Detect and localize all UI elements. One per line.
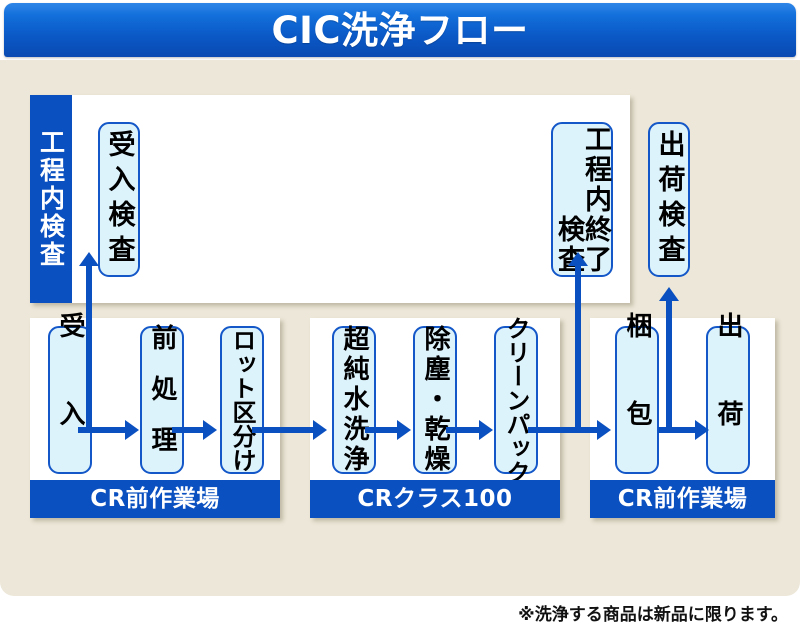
- node-lot-kubunke-label: ロット区分け: [230, 328, 254, 472]
- inspection-panel-side-label-text: 工程内検査: [39, 129, 64, 269]
- group-cr-class100-footer-label: CRクラス100: [357, 488, 512, 511]
- node-clean-pack-label: クリーンパック: [504, 316, 528, 484]
- arrow-konpo-to-shukka: [658, 427, 696, 433]
- node-uketsuke-kensa[interactable]: 受入検査: [98, 122, 140, 277]
- group-pre-cr-footer-label: CR前作業場: [90, 488, 220, 511]
- group-cr-class100: 超純水洗浄 除塵・乾燥 クリーンパック CRクラス100: [310, 318, 560, 518]
- title-banner: CIC洗浄フロー: [4, 3, 796, 57]
- node-chojunsui-senjo-label: 超純水洗浄: [341, 325, 367, 475]
- diagram-stage: 工程内検査 受入検査 工程内終了 検査 出荷検査 受入 前処理 ロット区分け C…: [0, 60, 800, 596]
- node-ukeire-label: 受入: [57, 312, 83, 488]
- node-jojin-kanso-label: 除塵・乾燥: [422, 325, 448, 475]
- node-uketsuke-kensa-label: 受入検査: [106, 130, 133, 270]
- node-maeshori-label: 前処理: [149, 324, 175, 477]
- arrow-jojin-to-cleanpack: [446, 427, 480, 433]
- group-pre-cr-workarea: 受入 前処理 ロット区分け CR前作業場: [30, 318, 280, 518]
- group-post-cr-body: 梱包 出荷: [590, 318, 775, 480]
- arrow-chojunsui-to-jojin: [365, 427, 398, 433]
- group-cr-class100-body: 超純水洗浄 除塵・乾燥 クリーンパック: [310, 318, 560, 480]
- node-chojunsui-senjo[interactable]: 超純水洗浄: [332, 326, 376, 474]
- node-shukka-kensa-label: 出荷検査: [656, 130, 683, 270]
- node-shukka-kensa[interactable]: 出荷検査: [648, 122, 690, 277]
- arrow-maeshori-to-lot: [172, 427, 204, 433]
- node-clean-pack[interactable]: クリーンパック: [494, 326, 538, 474]
- arrow-ukeire-to-maeshori: [78, 427, 126, 433]
- node-maeshori[interactable]: 前処理: [140, 326, 184, 474]
- node-konpo[interactable]: 梱包: [615, 326, 659, 474]
- page-title: CIC洗浄フロー: [271, 12, 528, 49]
- node-shukka[interactable]: 出荷: [706, 326, 750, 474]
- arrow-cleanpack-to-konpo: [528, 427, 598, 433]
- node-shukka-label: 出荷: [715, 312, 741, 488]
- group-cr-class100-footer: CRクラス100: [310, 480, 560, 518]
- group-post-cr-footer-label: CR前作業場: [618, 488, 748, 511]
- group-pre-cr-body: 受入 前処理 ロット区分け: [30, 318, 280, 480]
- group-pre-cr-footer: CR前作業場: [30, 480, 280, 518]
- footnote: ※洗浄する商品は新品に限ります。: [518, 607, 788, 624]
- arrow-lot-to-chojunsui: [252, 427, 314, 433]
- group-post-cr-footer: CR前作業場: [590, 480, 775, 518]
- group-post-cr-workarea: 梱包 出荷 CR前作業場: [590, 318, 775, 518]
- arrow-up-to-uketsuke-kensa: [86, 265, 92, 427]
- node-lot-kubunke[interactable]: ロット区分け: [220, 326, 264, 474]
- node-konpo-label: 梱包: [624, 312, 650, 488]
- arrow-up-to-shukka-kensa: [666, 300, 672, 427]
- arrow-up-to-koutei-shuryo-kensa: [575, 265, 581, 427]
- node-jojin-kanso[interactable]: 除塵・乾燥: [413, 326, 457, 474]
- inspection-panel-side-label: 工程内検査: [30, 95, 72, 303]
- inspection-panel: 工程内検査 受入検査 工程内終了 検査: [30, 95, 630, 303]
